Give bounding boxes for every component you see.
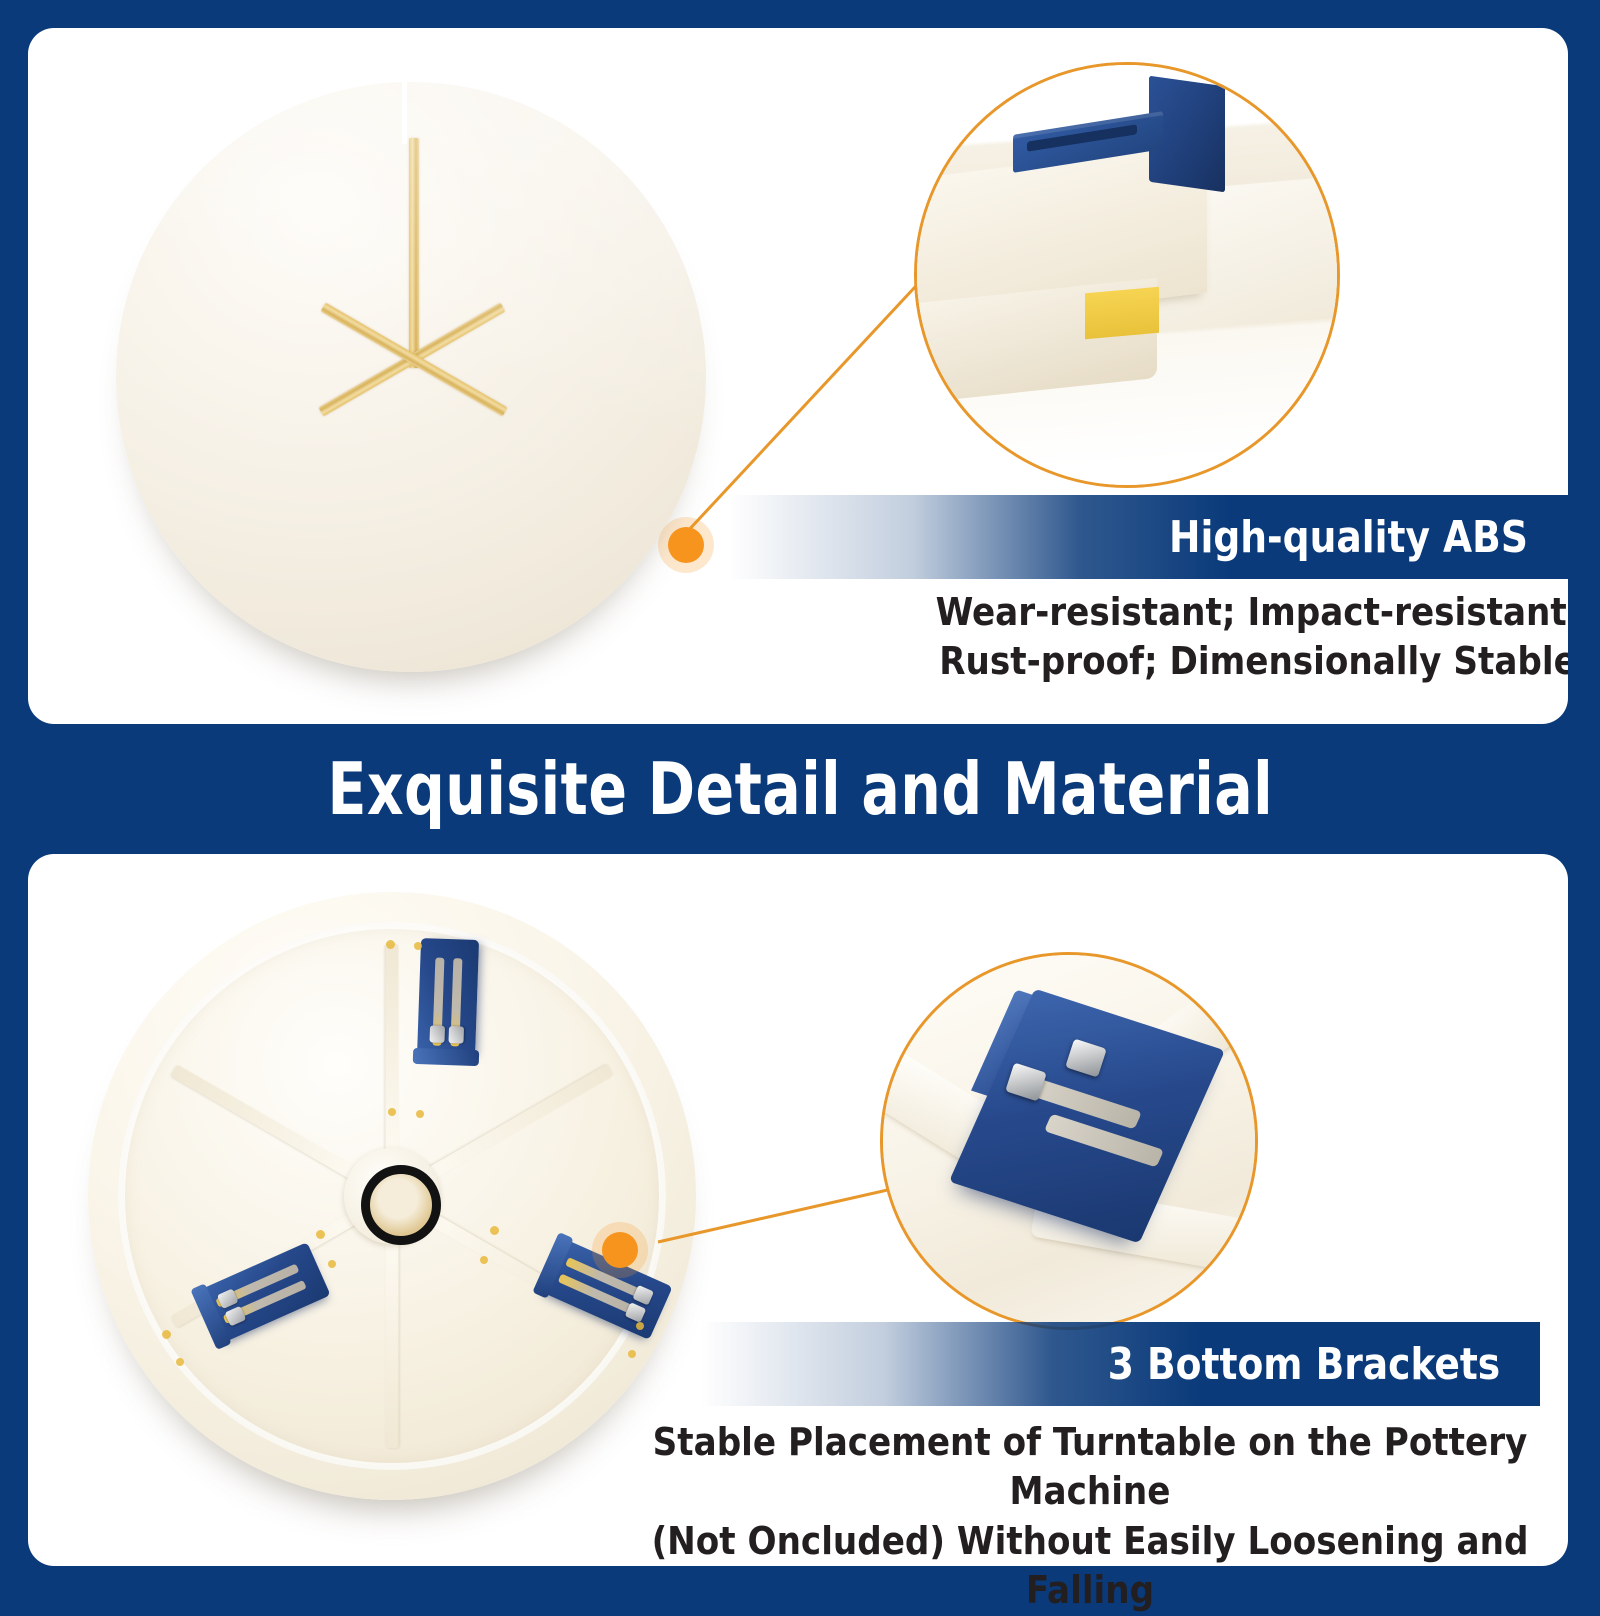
mold-speck <box>414 942 422 950</box>
mold-speck <box>490 1226 499 1235</box>
headline-title: Exquisite Detail and Material <box>327 747 1273 831</box>
mold-speck <box>316 1230 325 1239</box>
mold-speck <box>628 1350 636 1358</box>
disc-gap <box>402 82 407 144</box>
callout-dot-top <box>658 517 714 573</box>
disc-seam-1 <box>409 138 419 368</box>
product-photo-turntable-top <box>28 28 928 724</box>
bracket-nut-a <box>429 1025 445 1043</box>
callout-lens-bracket-detail <box>880 952 1258 1330</box>
infographic-frame: High-quality ABS Wear-resistant; Impact-… <box>0 0 1600 1600</box>
mold-speck <box>176 1358 184 1366</box>
headline-band: Exquisite Detail and Material <box>0 724 1600 854</box>
turntable-disc-bottom-view <box>88 892 696 1500</box>
lens-photo-abs <box>917 65 1337 485</box>
mold-speck <box>480 1256 488 1264</box>
turntable-disc-top-view <box>116 82 706 672</box>
center-o-ring <box>361 1165 441 1245</box>
feature-label-abs: High-quality ABS <box>1169 512 1568 563</box>
mold-speck <box>328 1260 336 1268</box>
feature-description-brackets-line1: Stable Placement of Turntable on the Pot… <box>620 1418 1560 1517</box>
mold-speck <box>162 1330 171 1339</box>
disc-yellow-notch <box>1085 287 1159 339</box>
lens-photo-bracket <box>883 955 1255 1327</box>
bracket-lip <box>413 1048 480 1066</box>
feature-label-bar-brackets: 3 Bottom Brackets <box>700 1322 1540 1406</box>
feature-label-bar-abs: High-quality ABS <box>728 495 1568 579</box>
feature-description-abs: Wear-resistant; Impact-resistant; Rust-p… <box>928 588 1568 687</box>
mold-speck <box>386 940 395 949</box>
feature-description-abs-line1: Wear-resistant; Impact-resistant; <box>928 588 1568 637</box>
feature-card-abs-material: High-quality ABS Wear-resistant; Impact-… <box>28 28 1568 724</box>
feature-description-abs-line2: Rust-proof; Dimensionally Stable <box>928 637 1568 686</box>
mold-speck <box>388 1108 396 1116</box>
mold-speck <box>416 1110 424 1118</box>
feature-description-brackets: Stable Placement of Turntable on the Pot… <box>620 1418 1560 1616</box>
mold-speck <box>636 1322 644 1330</box>
callout-dot-bottom <box>592 1222 648 1278</box>
disc-seam-3 <box>321 303 508 417</box>
feature-description-brackets-line2: (Not Oncluded) Without Easily Loosening … <box>620 1517 1560 1616</box>
bottom-bracket-1 <box>417 938 479 1060</box>
feature-label-brackets: 3 Bottom Brackets <box>1108 1339 1540 1390</box>
bracket-nut-b <box>448 1026 464 1044</box>
disc-seam-2 <box>319 303 506 417</box>
callout-lens-abs-detail <box>914 62 1340 488</box>
